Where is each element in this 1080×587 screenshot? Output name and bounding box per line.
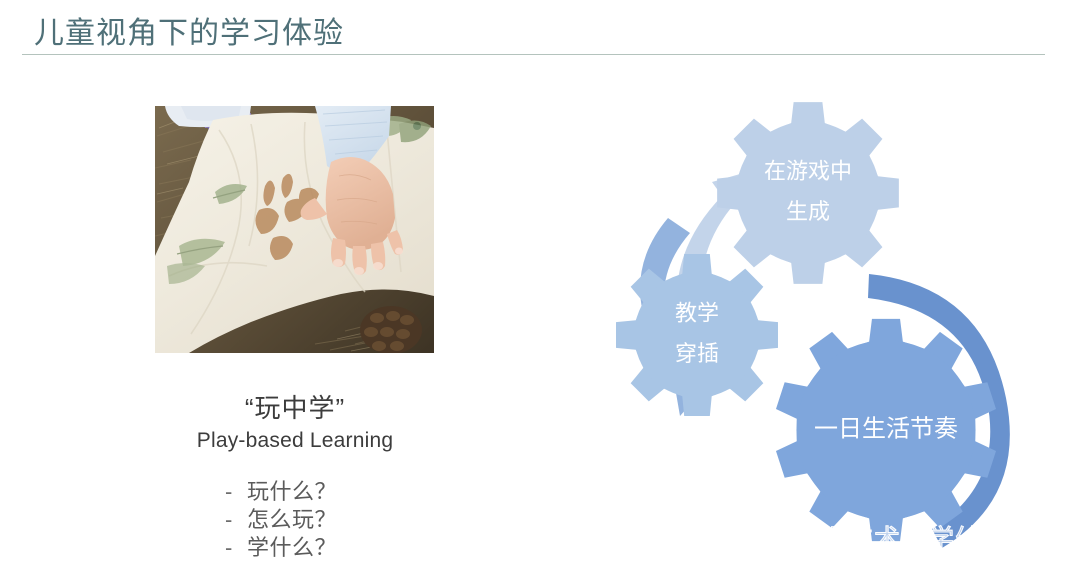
caption-chinese: “玩中学” xyxy=(0,388,590,425)
gear-middle-hub xyxy=(634,272,759,397)
gear-top-hub xyxy=(736,121,879,264)
caption-english: Play-based Learning xyxy=(0,429,590,453)
gear-top: 在游戏中生成 xyxy=(717,102,899,284)
list-item: - 玩什么？ xyxy=(225,478,337,506)
page-title: 儿童视角下的学习体验 xyxy=(34,8,344,52)
bullet-dash: - xyxy=(225,506,247,534)
gear-middle-label: 穿插 xyxy=(675,341,719,366)
list-item-label: 学什么？ xyxy=(247,534,337,562)
list-item: - 怎么玩？ xyxy=(225,506,337,534)
question-list: - 玩什么？ - 怎么玩？ - 学什么？ xyxy=(225,478,337,562)
title-divider xyxy=(22,54,1045,55)
gear-middle: 教学穿插 xyxy=(616,254,778,416)
list-item-label: 玩什么？ xyxy=(247,478,337,506)
gear-middle-label: 教学 xyxy=(675,300,719,325)
bullet-dash: - xyxy=(225,478,247,506)
gear-cycle-diagram: 在游戏中生成教学穿插一日生活节奏 xyxy=(540,70,1080,587)
gear-bottom-label: 一日生活节奏 xyxy=(814,415,958,442)
bullet-dash: - xyxy=(225,534,247,562)
gear-top-label: 生成 xyxy=(786,199,830,224)
list-item-label: 怎么玩？ xyxy=(247,506,337,534)
gear-top-label: 在游戏中 xyxy=(764,158,852,183)
photo-child-hand-on-fabric xyxy=(155,106,434,353)
list-item: - 学什么？ xyxy=(225,534,337,562)
